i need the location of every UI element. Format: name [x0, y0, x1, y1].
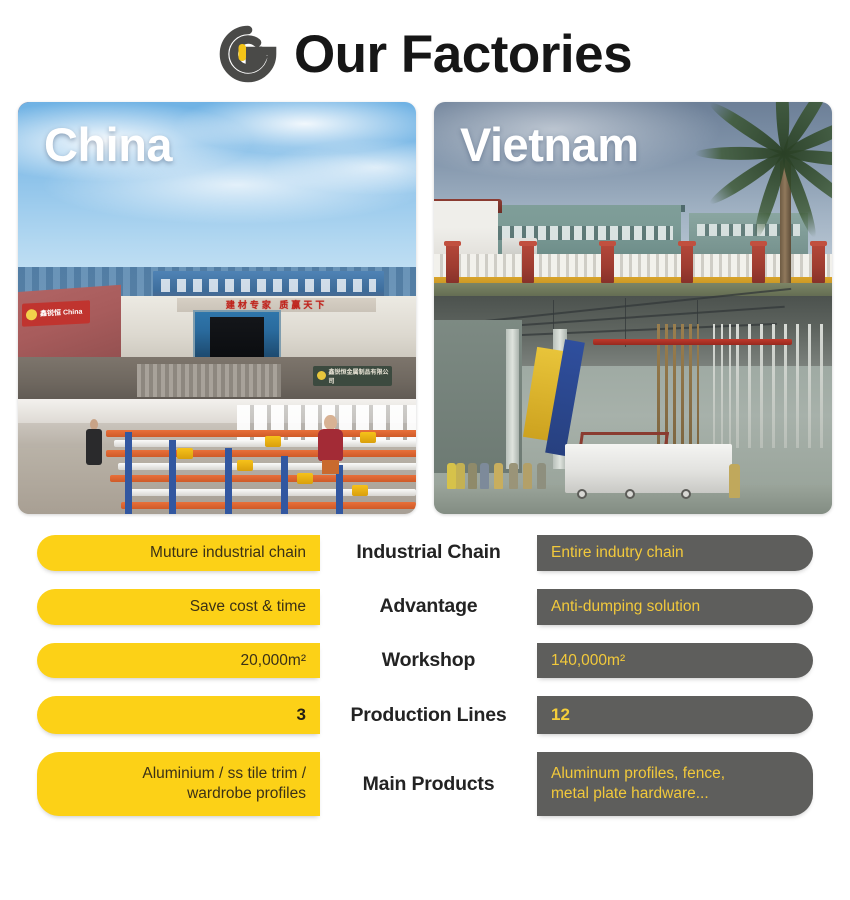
spec-row: Aluminium / ss tile trim / wardrobe prof…	[0, 752, 850, 816]
spec-china-value: Muture industrial chain	[37, 535, 320, 571]
spec-row: Save cost & time Advantage Anti-dumping …	[0, 589, 850, 625]
company-g-logo-icon	[218, 24, 278, 84]
china-blue-windows	[161, 279, 376, 291]
photo-caption-china: China	[44, 120, 172, 169]
spec-china-value: Save cost & time	[37, 589, 320, 625]
spec-china-value: Aluminium / ss tile trim / wardrobe prof…	[37, 752, 320, 816]
spec-china-value: 20,000m²	[37, 643, 320, 679]
row-spacer	[0, 625, 850, 643]
china-sign-text: 鑫锐恒 China	[40, 308, 82, 318]
spec-vietnam-value: Aluminum profiles, fence, metal plate ha…	[537, 752, 813, 816]
spec-label: Industrial Chain	[356, 541, 500, 564]
spec-label-cell: Workshop	[320, 643, 537, 679]
spec-row: 3 Production Lines 12	[0, 696, 850, 734]
vietnam-worker-foreground	[729, 464, 740, 498]
vietnam-profile-stack-on-cart	[565, 444, 732, 493]
photo-vietnam[interactable]: Vietnam	[434, 102, 832, 514]
row-spacer	[0, 678, 850, 696]
vietnam-palm-crown	[705, 102, 832, 201]
china-worker-dark	[86, 419, 102, 464]
photo-caption-vietnam: Vietnam	[460, 120, 639, 169]
row-spacer	[0, 734, 850, 752]
vietnam-crane-red-beam	[593, 339, 792, 346]
specs-comparison-table: Muture industrial chain Industrial Chain…	[0, 535, 850, 865]
china-sign-logo-dot	[26, 309, 37, 321]
factories-infographic: Our Factories 建材专家 质赢天下 鑫锐恒 China 鑫锐恒金属制	[0, 0, 850, 900]
china-gate-sign: 鑫锐恒金属制品有限公司	[313, 366, 393, 387]
photo-china[interactable]: 建材专家 质赢天下 鑫锐恒 China 鑫锐恒金属制品有限公司	[18, 102, 416, 514]
china-company-sign: 鑫锐恒 China	[22, 300, 90, 326]
spec-vietnam-value: 140,000m²	[537, 643, 813, 679]
china-rolling-gate	[137, 364, 280, 397]
china-gate-logo-dot	[317, 371, 326, 380]
china-worker-red-shirt	[317, 415, 345, 473]
vietnam-cart-wheel	[681, 489, 691, 499]
page-title: Our Factories	[294, 28, 632, 81]
spec-label: Main Products	[363, 773, 495, 796]
spec-label: Production Lines	[350, 704, 506, 727]
spec-label: Advantage	[380, 595, 478, 618]
china-gate-sign-text: 鑫锐恒金属制品有限公司	[329, 367, 393, 385]
spec-label-cell: Industrial Chain	[320, 535, 537, 571]
factory-photo-row: 建材专家 质赢天下 鑫锐恒 China 鑫锐恒金属制品有限公司	[18, 102, 832, 514]
spec-row: Muture industrial chain Industrial Chain…	[0, 535, 850, 571]
spec-vietnam-value: Entire indutry chain	[537, 535, 813, 571]
spec-label-cell: Main Products	[320, 752, 537, 816]
vietnam-workers-group	[442, 436, 561, 490]
china-roller-door	[193, 310, 281, 359]
spec-label-cell: Production Lines	[320, 696, 537, 734]
spec-label: Workshop	[382, 649, 475, 672]
spec-row: 20,000m² Workshop 140,000m²	[0, 643, 850, 679]
spec-vietnam-value: 12	[537, 696, 813, 734]
row-spacer	[0, 571, 850, 589]
spec-china-value: 3	[37, 696, 320, 734]
page-header: Our Factories	[0, 18, 850, 90]
spec-vietnam-value: Anti-dumping solution	[537, 589, 813, 625]
spec-label-cell: Advantage	[320, 589, 537, 625]
